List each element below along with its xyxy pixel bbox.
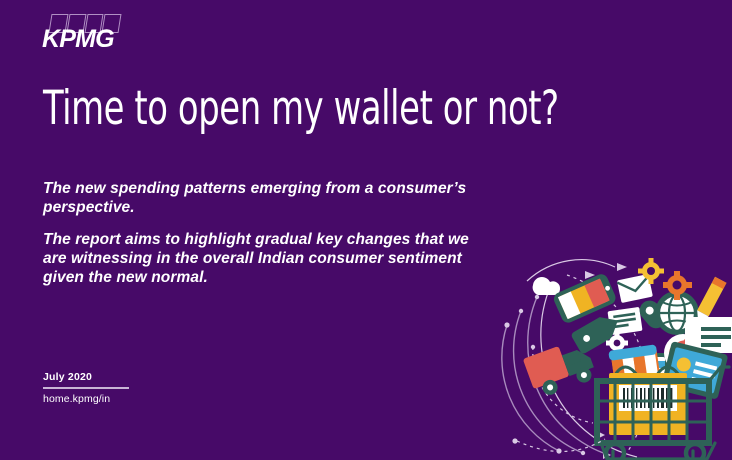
hero-paragraph-2: The report aims to highlight gradual key… (43, 231, 495, 288)
ecommerce-shopping-cart-illustration: .arc { fill:none; stroke:#a88bbd; stroke… (497, 255, 732, 460)
arc-end-dot (519, 309, 523, 313)
publication-date: July 2020 (43, 371, 133, 387)
footer: July 2020 home.kpmg/in (43, 371, 133, 405)
footer-divider (43, 387, 129, 389)
arc-end-dot (581, 451, 585, 455)
page-title: Time to open my wallet or not? (43, 84, 559, 133)
smartphone-icon (552, 272, 618, 325)
cover-page: KPMG Time to open my wallet or not? The … (0, 0, 732, 460)
cloud-icon (533, 277, 560, 295)
hero-paragraph-1: The new spending patterns emerging from … (43, 180, 495, 218)
hero-description: The new spending patterns emerging from … (43, 180, 495, 288)
kpmg-logo: KPMG (42, 13, 132, 58)
arc-end-dot (535, 295, 539, 299)
arc-end-dot (504, 322, 509, 327)
footer-url[interactable]: home.kpmg/in (43, 393, 133, 405)
arc-end-dot (531, 345, 535, 349)
arrow-marker (617, 263, 627, 271)
kpmg-wordmark: KPMG (42, 27, 114, 52)
